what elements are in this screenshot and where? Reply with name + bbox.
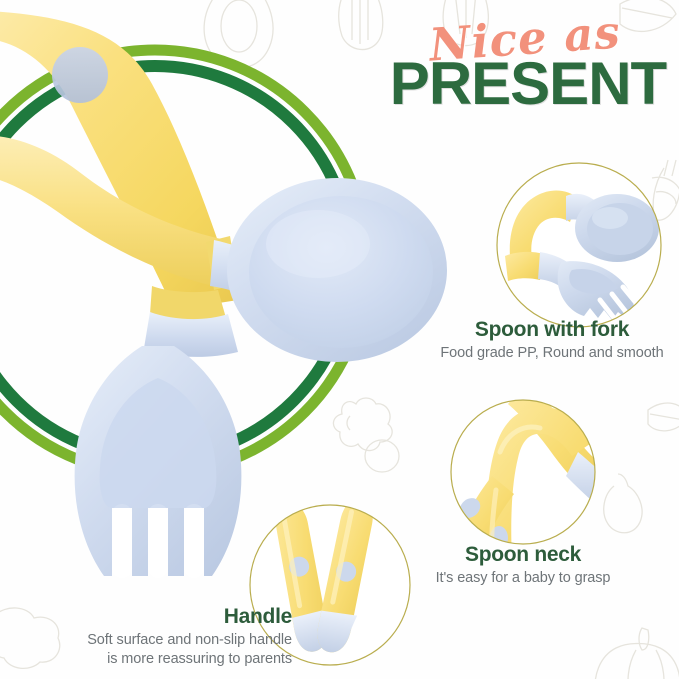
inset-handle-content [250,496,410,665]
detail-insets [0,0,679,679]
inset-spoon-with-fork-content [497,163,661,327]
inset-spoon-neck-content [430,384,610,560]
product-infographic: Nice as PRESENT Spoon with fork Food gra… [0,0,679,679]
